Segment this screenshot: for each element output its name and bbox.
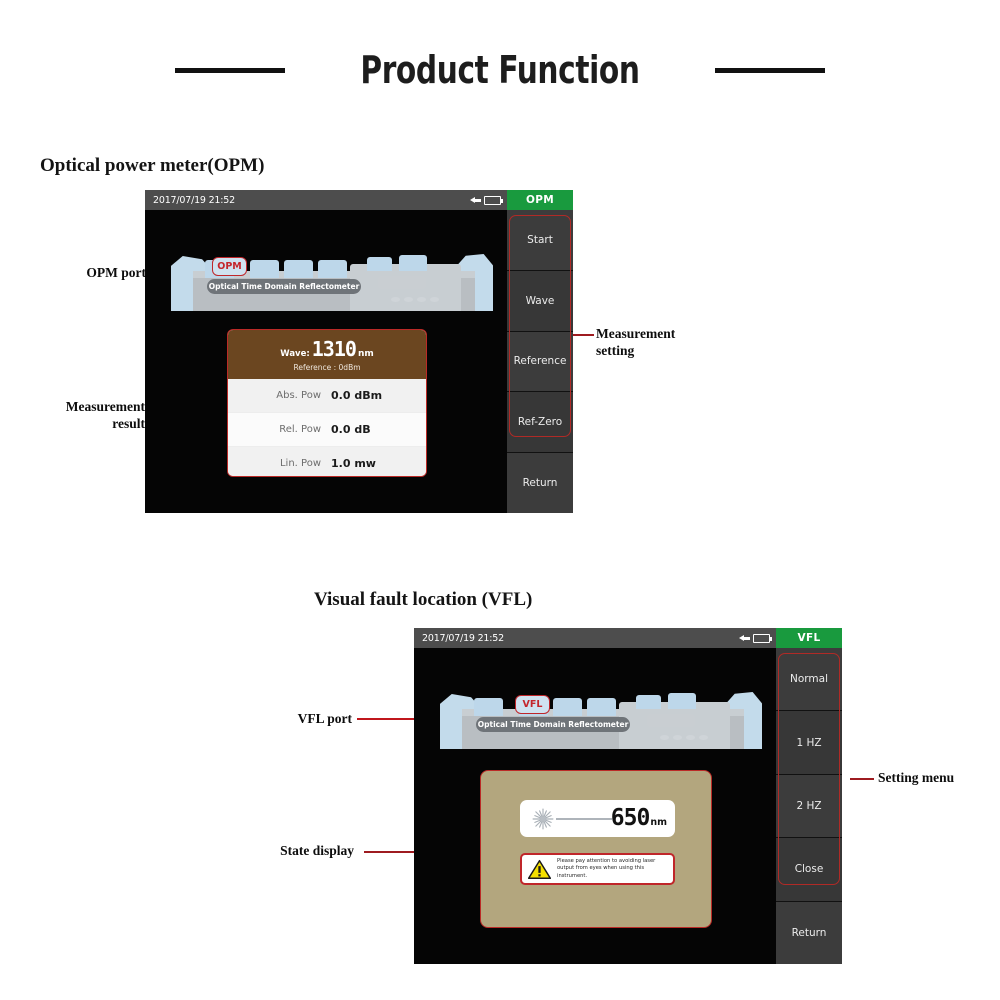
opm-statusbar: 2017/07/19 21:52	[145, 190, 507, 210]
annotation-opm-port: OPM port	[60, 265, 146, 282]
device-button-1	[391, 297, 400, 302]
power-plug-icon	[470, 196, 481, 205]
device-button-3	[417, 297, 426, 302]
menu-item-close[interactable]: Close	[776, 838, 842, 901]
vfl-side-menu: Normal 1 HZ 2 HZ Close Return	[776, 648, 842, 964]
laser-wave-group: 650 nm	[611, 807, 667, 830]
device-port-cap-5	[636, 695, 661, 709]
opm-measurement-panel: Wave: 1310 nm Reference : 0dBm Abs. Pow …	[227, 329, 427, 477]
annotation-vfl-port: VFL port	[268, 711, 352, 728]
device-port-cap-2	[250, 260, 279, 278]
device-port-cap-5	[367, 257, 392, 271]
device-button-2	[404, 297, 413, 302]
measurement-value: 0.0 dBm	[331, 389, 389, 402]
annotation-state-display: State display	[250, 843, 354, 860]
wave-unit: nm	[358, 349, 374, 359]
laser-beam-line	[556, 818, 612, 820]
device-brand-label: Optical Time Domain Reflectometer	[476, 717, 630, 732]
wave-value: 1310	[312, 339, 356, 359]
vfl-port-badge: VFL	[515, 695, 550, 714]
menu-item-1hz[interactable]: 1 HZ	[776, 711, 842, 774]
statusbar-icons	[470, 196, 501, 205]
leader-setting-menu	[850, 778, 874, 780]
device-button-4	[430, 297, 439, 302]
vfl-mode-tag: VFL	[776, 628, 842, 648]
measurement-row-rel-pow: Rel. Pow 0.0 dB	[228, 413, 426, 447]
menu-item-return[interactable]: Return	[776, 902, 842, 964]
device-port-cap-6	[668, 693, 696, 709]
statusbar-icons	[739, 634, 770, 643]
statusbar-clock: 2017/07/19 21:52	[422, 633, 504, 644]
device-display-window	[647, 714, 695, 727]
vfl-state-panel: 650 nm Please pay attention to avoiding …	[480, 770, 712, 928]
opm-port-badge: OPM	[212, 257, 247, 276]
reference-line: Reference : 0dBm	[228, 363, 426, 372]
device-port-cap-6	[399, 255, 427, 271]
device-port-cap-4	[587, 698, 616, 716]
statusbar-clock: 2017/07/19 21:52	[153, 195, 235, 206]
device-port-cap-4	[318, 260, 347, 278]
measurement-panel-header: Wave: 1310 nm Reference : 0dBm	[228, 330, 426, 379]
annotation-setting-menu: Setting menu	[878, 770, 998, 787]
title-rule-left	[175, 68, 285, 73]
leader-measurement-setting	[570, 334, 594, 336]
power-plug-icon	[739, 634, 750, 643]
menu-item-2hz[interactable]: 2 HZ	[776, 775, 842, 838]
battery-icon	[753, 634, 770, 643]
warning-triangle-icon	[528, 859, 551, 880]
device-brand-label: Optical Time Domain Reflectometer	[207, 279, 361, 294]
laser-wave-unit: nm	[650, 817, 667, 828]
device-display-window	[378, 276, 426, 289]
laser-warning-box: Please pay attention to avoiding laser o…	[520, 853, 675, 885]
battery-icon	[484, 196, 501, 205]
page-title: Product Function	[360, 48, 639, 92]
annotation-measurement-result: Measurement result	[20, 399, 145, 433]
device-button-4	[699, 735, 708, 740]
menu-item-reference[interactable]: Reference	[507, 332, 573, 393]
menu-item-ref-zero[interactable]: Ref-Zero	[507, 392, 573, 453]
opm-section-heading: Optical power meter(OPM)	[40, 155, 264, 177]
menu-item-normal[interactable]: Normal	[776, 648, 842, 711]
device-port-cap-3	[553, 698, 582, 716]
title-rule-right	[715, 68, 825, 73]
menu-item-wave[interactable]: Wave	[507, 271, 573, 332]
measurement-value: 1.0 mw	[331, 457, 389, 470]
measurement-key: Rel. Pow	[265, 424, 321, 435]
measurement-key: Abs. Pow	[265, 390, 321, 401]
menu-item-return[interactable]: Return	[507, 453, 573, 513]
vfl-statusbar: 2017/07/19 21:52	[414, 628, 776, 648]
device-button-3	[686, 735, 695, 740]
opm-device-illustration: Optical Time Domain Reflectometer OPM	[171, 246, 493, 318]
laser-warning-text: Please pay attention to avoiding laser o…	[557, 858, 667, 881]
measurement-row-lin-pow: Lin. Pow 1.0 mw	[228, 447, 426, 477]
vfl-section-heading: Visual fault location (VFL)	[314, 589, 532, 611]
wave-label: Wave:	[280, 349, 310, 359]
annotation-measurement-setting: Measurement setting	[596, 326, 726, 360]
opm-device-screen: 2017/07/19 21:52 OPM Optical Time Domain	[145, 190, 573, 513]
opm-side-menu: Start Wave Reference Ref-Zero Return	[507, 210, 573, 513]
device-button-1	[660, 735, 669, 740]
device-button-2	[673, 735, 682, 740]
device-port-cap-3	[284, 260, 313, 278]
laser-readout-box: 650 nm	[520, 800, 675, 837]
opm-mode-tag: OPM	[507, 190, 573, 210]
measurement-key: Lin. Pow	[265, 458, 321, 469]
measurement-row-abs-pow: Abs. Pow 0.0 dBm	[228, 379, 426, 413]
vfl-device-screen: 2017/07/19 21:52 VFL Optical Time Domain…	[414, 628, 842, 964]
laser-wave-value: 650	[611, 807, 650, 830]
vfl-device-illustration: Optical Time Domain Reflectometer VFL	[440, 684, 762, 756]
laser-starburst-icon	[532, 808, 554, 830]
device-port-cap-1	[474, 698, 503, 716]
wave-line: Wave: 1310 nm	[228, 339, 426, 359]
measurement-value: 0.0 dB	[331, 423, 389, 436]
menu-item-start[interactable]: Start	[507, 210, 573, 271]
page-title-row: Product Function	[0, 40, 1000, 100]
